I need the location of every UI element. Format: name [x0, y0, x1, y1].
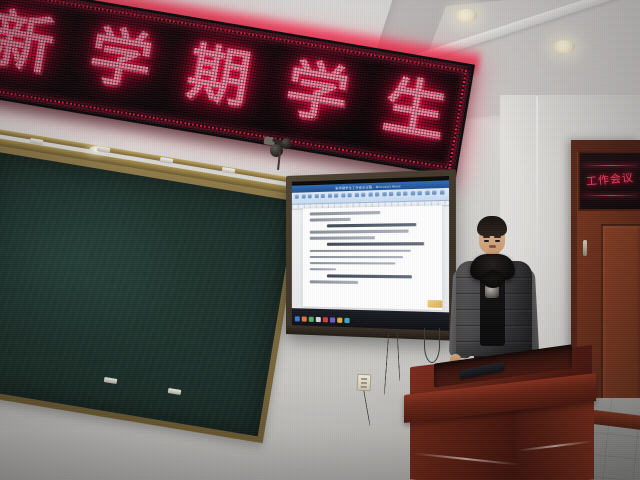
smartboard-bezel: 新学期学生工作会议议程 - Microsoft Word [292, 176, 449, 334]
door-panel-inset [601, 224, 640, 416]
person-fur-collar [470, 254, 515, 280]
document-text-line [327, 243, 424, 247]
document-text-line [310, 218, 351, 221]
taskbar-app-icon[interactable] [309, 316, 314, 321]
ribbon-button[interactable] [308, 194, 312, 198]
ribbon-button[interactable] [354, 193, 358, 197]
taskbar-app-icon[interactable] [302, 316, 307, 321]
ribbon-button[interactable] [389, 192, 393, 196]
chalkboard-texture [0, 152, 297, 437]
ribbon-button[interactable] [403, 191, 407, 195]
taskbar-app-icon[interactable] [337, 317, 342, 322]
ribbon-button[interactable] [439, 190, 444, 194]
taskbar-app-icon[interactable] [316, 316, 321, 321]
document-text-line [310, 230, 408, 234]
camera-icon [281, 138, 292, 149]
ceiling-downlight-icon [553, 40, 575, 53]
ribbon-button[interactable] [295, 195, 299, 199]
document-text-line [327, 223, 417, 227]
smartboard[interactable]: 新学期学生工作会议议程 - Microsoft Word [286, 169, 456, 341]
door-handle[interactable] [583, 240, 587, 256]
taskbar-app-icon[interactable] [295, 316, 300, 321]
conference-room-photo: 新 学 期 学 生 工 作 会 议 新学期学生工作会议议程 - Microsof… [0, 0, 640, 480]
ribbon-button[interactable] [375, 192, 379, 196]
speaker-icon [270, 144, 283, 157]
ribbon-button[interactable] [425, 191, 429, 195]
taskbar-app-icon[interactable] [330, 317, 335, 322]
smartboard-screen[interactable]: 新学期学生工作会议议程 - Microsoft Word [292, 180, 449, 312]
ribbon-button[interactable] [341, 193, 345, 197]
person-mouth [489, 245, 496, 248]
document-watermark-icon [428, 300, 443, 308]
ribbon-button[interactable] [432, 190, 437, 194]
word-document-page[interactable] [303, 205, 442, 310]
ribbon-button[interactable] [417, 191, 421, 195]
ribbon-button[interactable] [361, 193, 365, 197]
ribbon-button[interactable] [321, 194, 325, 198]
taskbar-app-icon[interactable] [344, 317, 349, 322]
ribbon-button[interactable] [368, 192, 372, 196]
door-transom-glass: 工作会议 [578, 151, 640, 211]
ribbon-button[interactable] [410, 191, 414, 195]
person-hair [477, 216, 507, 236]
chalkboard-surface [0, 152, 297, 437]
document-text-line [310, 249, 411, 252]
taskbar-app-icon[interactable] [323, 317, 328, 322]
document-text-line [327, 274, 411, 278]
wall-outlet[interactable] [357, 374, 372, 392]
ribbon-button[interactable] [382, 192, 386, 196]
ceiling-downlight-icon [455, 9, 477, 22]
ribbon-button[interactable] [348, 193, 352, 197]
ribbon-button[interactable] [334, 193, 338, 197]
ribbon-button[interactable] [314, 194, 318, 198]
ribbon-button[interactable] [301, 194, 305, 198]
document-text-line [310, 256, 403, 259]
document-text-line [310, 237, 375, 240]
document-text-line [310, 268, 336, 271]
document-text-line [310, 211, 380, 215]
document-text-line [310, 280, 358, 283]
ribbon-button[interactable] [327, 194, 331, 198]
door-glass-led-reflection: 工作会议 [585, 169, 638, 190]
document-text-line [310, 262, 396, 265]
podium[interactable] [398, 340, 598, 480]
ribbon-button[interactable] [396, 192, 400, 196]
